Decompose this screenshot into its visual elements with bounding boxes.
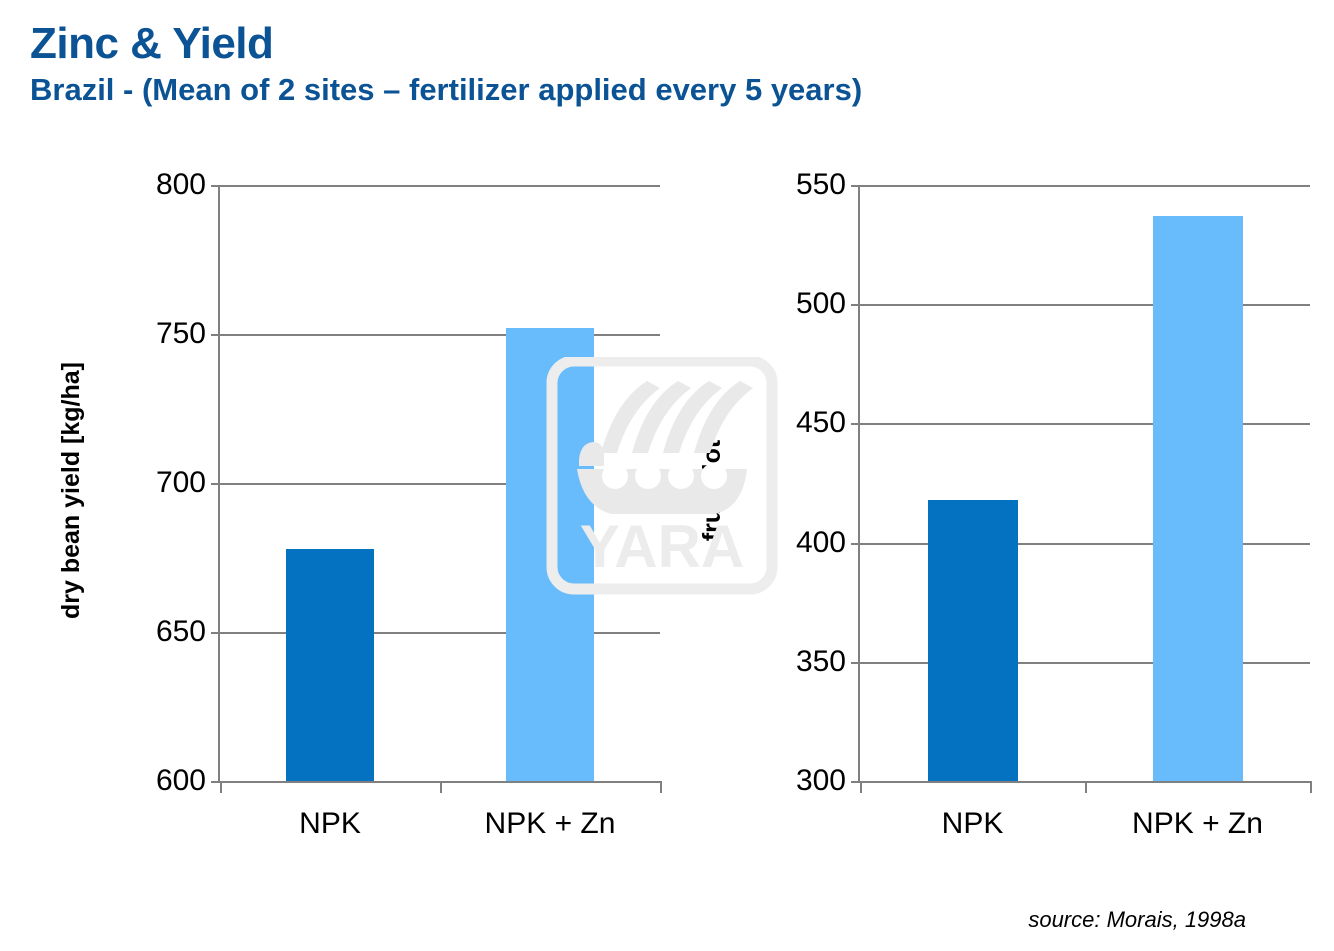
bar-left-0 [286,549,374,781]
y-axis-tick-label: 550 [796,168,846,202]
x-axis-category-label: NPK [942,807,1004,841]
plot-area-left: 800750700650600NPKNPK + Zn [218,185,660,783]
x-axis-category-label: NPK [299,807,361,841]
plot-wrap-left: 800750700650600NPKNPK + Zn [160,150,660,830]
y-axis-tick [211,632,220,634]
y-axis-tick-label: 450 [796,406,846,440]
chart-header: Zinc & Yield Brazil - (Mean of 2 sites –… [30,22,1310,105]
y-axis-tick-label: 400 [796,526,846,560]
y-axis-title-left: dry bean yield [kg/ha] [48,150,94,830]
x-axis-tick [660,781,662,793]
y-axis-title-right-label: fruit/plot [699,439,728,540]
y-axis-tick-label: 800 [156,168,206,202]
y-axis-tick-label: 600 [156,764,206,798]
chart-dry-bean-yield: dry bean yield [kg/ha] 800750700650600NP… [20,150,670,830]
gridline [860,423,1310,425]
x-axis-tick [220,781,222,793]
y-axis-tick [851,662,860,664]
page-subtitle: Brazil - (Mean of 2 sites – fertilizer a… [30,74,1310,105]
y-axis-tick [211,334,220,336]
page-title: Zinc & Yield [30,22,1310,66]
y-axis-tick [851,781,860,783]
y-axis-tick [851,304,860,306]
x-axis-tick [860,781,862,793]
bar-left-1 [506,328,594,781]
gridline [220,483,660,485]
y-axis-tick-label: 700 [156,466,206,500]
gridline [220,185,660,187]
bar-right-0 [928,500,1018,781]
bar-right-1 [1153,216,1243,781]
plot-wrap-right: 550500450400350300NPKNPK + Zn [800,150,1310,830]
y-axis-title-right: fruit/plot [690,150,736,830]
chart-fruit-per-plot: fruit/plot 550500450400350300NPKNPK + Zn [690,150,1320,830]
y-axis-tick [851,543,860,545]
y-axis-tick-label: 750 [156,317,206,351]
y-axis-tick [851,185,860,187]
plot-area-right: 550500450400350300NPKNPK + Zn [858,185,1310,783]
x-axis-tick [1085,781,1087,793]
y-axis-title-left-label: dry bean yield [kg/ha] [57,361,86,618]
y-axis-tick [211,185,220,187]
gridline [860,304,1310,306]
y-axis-tick-label: 650 [156,615,206,649]
gridline [220,334,660,336]
y-axis-tick [211,483,220,485]
y-axis-tick [211,781,220,783]
x-axis-tick [440,781,442,793]
x-axis-category-label: NPK + Zn [485,807,616,841]
y-axis-tick-label: 350 [796,645,846,679]
x-axis-category-label: NPK + Zn [1132,807,1263,841]
y-axis-tick-label: 300 [796,764,846,798]
gridline [860,185,1310,187]
y-axis-tick [851,423,860,425]
y-axis-tick-label: 500 [796,287,846,321]
x-axis-tick [1310,781,1312,793]
source-note: source: Morais, 1998a [1028,907,1246,933]
